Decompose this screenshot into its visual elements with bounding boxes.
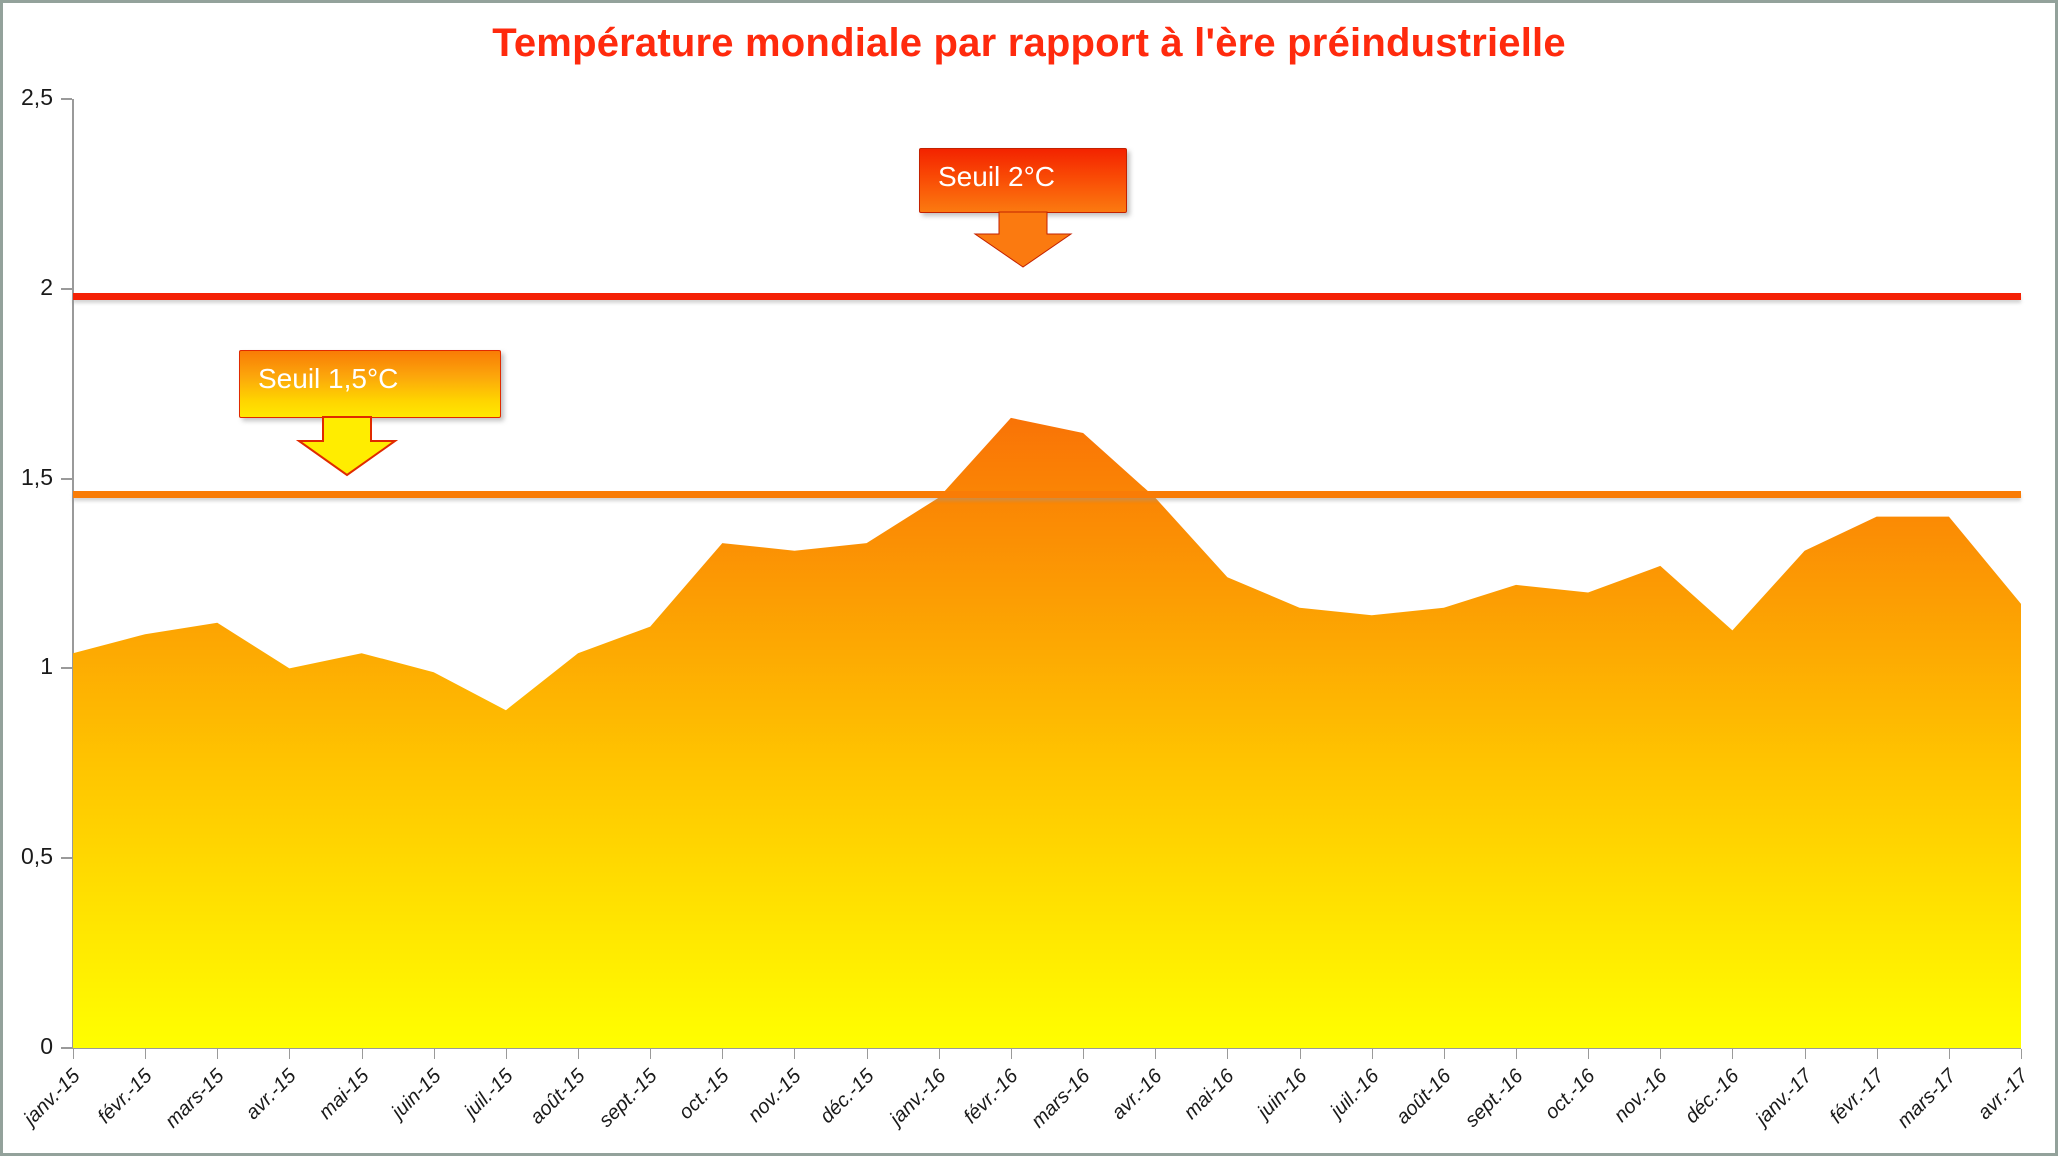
x-tick-label-text: juin-15 bbox=[387, 1065, 446, 1124]
x-tick-mark bbox=[434, 1049, 435, 1059]
threshold-2c-line bbox=[73, 293, 2021, 300]
x-tick-label-text: juil.-15 bbox=[460, 1065, 518, 1123]
x-tick-label-text: mai-16 bbox=[1180, 1065, 1239, 1124]
x-tick-mark bbox=[867, 1049, 868, 1059]
y-tick-mark bbox=[61, 478, 72, 480]
x-tick-label-text: févr.-16 bbox=[960, 1065, 1024, 1129]
callout-2c-arrow-icon bbox=[919, 212, 1127, 262]
x-tick-mark bbox=[1949, 1049, 1950, 1059]
x-tick-label-text: févr.-17 bbox=[1825, 1065, 1889, 1129]
x-tick-label-text: sept.-16 bbox=[1461, 1065, 1528, 1132]
x-tick-mark bbox=[1877, 1049, 1878, 1059]
x-tick-mark bbox=[2021, 1049, 2022, 1059]
callout-15c-label: Seuil 1,5°C bbox=[258, 363, 398, 395]
x-tick-mark bbox=[289, 1049, 290, 1059]
callout-15c-box: Seuil 1,5°C bbox=[239, 350, 501, 418]
x-tick-label-text: janv.-16 bbox=[886, 1065, 952, 1131]
x-tick-mark bbox=[1155, 1049, 1156, 1059]
x-tick-mark bbox=[1444, 1049, 1445, 1059]
x-tick-mark bbox=[1372, 1049, 1373, 1059]
callout-2c-box: Seuil 2°C bbox=[919, 148, 1127, 213]
y-tick-mark bbox=[61, 857, 72, 859]
x-tick-mark bbox=[794, 1049, 795, 1059]
x-tick-mark bbox=[1732, 1049, 1733, 1059]
y-tick-label: 1,5 bbox=[3, 464, 53, 491]
x-tick-label-text: avr.-17 bbox=[1974, 1065, 2034, 1125]
y-tick-mark bbox=[61, 1047, 72, 1049]
x-tick-mark bbox=[1300, 1049, 1301, 1059]
x-tick-label-text: mars-16 bbox=[1027, 1065, 1095, 1133]
x-tick-label-text: sept.-15 bbox=[595, 1065, 662, 1132]
x-tick-mark bbox=[506, 1049, 507, 1059]
x-tick-mark bbox=[939, 1049, 940, 1059]
callout-seuil-15c[interactable]: Seuil 1,5°C bbox=[239, 350, 501, 418]
x-tick-label-text: févr.-15 bbox=[94, 1065, 158, 1129]
temperature-area bbox=[73, 418, 2021, 1048]
x-tick-label-text: déc.-16 bbox=[1681, 1065, 1744, 1128]
x-tick-label-text: nov.-16 bbox=[1610, 1065, 1672, 1127]
x-tick-label-text: août-15 bbox=[526, 1065, 590, 1129]
x-tick-mark bbox=[1660, 1049, 1661, 1059]
x-tick-label-text: nov.-15 bbox=[744, 1065, 806, 1127]
x-tick-label-text: déc.-15 bbox=[815, 1065, 878, 1128]
x-tick-mark bbox=[217, 1049, 218, 1059]
x-tick-label-text: oct.-16 bbox=[1541, 1065, 1601, 1125]
x-tick-mark bbox=[1227, 1049, 1228, 1059]
y-tick-mark bbox=[61, 667, 72, 669]
y-tick-label: 0,5 bbox=[3, 843, 53, 870]
x-tick-mark bbox=[362, 1049, 363, 1059]
chart-frame: Température mondiale par rapport à l'ère… bbox=[0, 0, 2058, 1156]
x-tick-label-text: juil.-16 bbox=[1326, 1065, 1384, 1123]
x-tick-label-text: oct.-15 bbox=[675, 1065, 735, 1125]
callout-2c-label: Seuil 2°C bbox=[938, 161, 1055, 193]
x-tick-mark bbox=[73, 1049, 74, 1059]
x-tick-mark bbox=[1805, 1049, 1806, 1059]
callout-seuil-2c[interactable]: Seuil 2°C bbox=[919, 148, 1127, 213]
x-tick-mark bbox=[650, 1049, 651, 1059]
threshold-15c-line bbox=[73, 491, 2021, 498]
x-tick-label-text: mars-15 bbox=[161, 1065, 229, 1133]
x-tick-label-text: août-16 bbox=[1392, 1065, 1456, 1129]
x-tick-mark bbox=[145, 1049, 146, 1059]
x-tick-mark bbox=[1083, 1049, 1084, 1059]
x-tick-label-text: mars-17 bbox=[1893, 1065, 1961, 1133]
x-tick-label-text: mai-15 bbox=[314, 1065, 373, 1124]
x-tick-label-text: janv.-15 bbox=[20, 1065, 86, 1131]
x-tick-mark bbox=[1011, 1049, 1012, 1059]
y-tick-mark bbox=[61, 98, 72, 100]
x-tick-label-text: janv.-17 bbox=[1751, 1065, 1817, 1131]
y-tick-mark bbox=[61, 288, 72, 290]
x-tick-label-text: juin-16 bbox=[1253, 1065, 1312, 1124]
callout-15c-arrow-icon bbox=[239, 417, 501, 472]
y-tick-label: 2 bbox=[3, 274, 53, 301]
x-tick-mark bbox=[578, 1049, 579, 1059]
x-tick-label-text: avr.-16 bbox=[1108, 1065, 1168, 1125]
x-tick-mark bbox=[722, 1049, 723, 1059]
y-tick-label: 2,5 bbox=[3, 84, 53, 111]
x-tick-label-text: avr.-15 bbox=[242, 1065, 302, 1125]
x-tick-mark bbox=[1516, 1049, 1517, 1059]
x-tick-mark bbox=[1588, 1049, 1589, 1059]
y-tick-label: 1 bbox=[3, 653, 53, 680]
chart-title: Température mondiale par rapport à l'ère… bbox=[3, 21, 2055, 66]
y-tick-label: 0 bbox=[3, 1033, 53, 1060]
